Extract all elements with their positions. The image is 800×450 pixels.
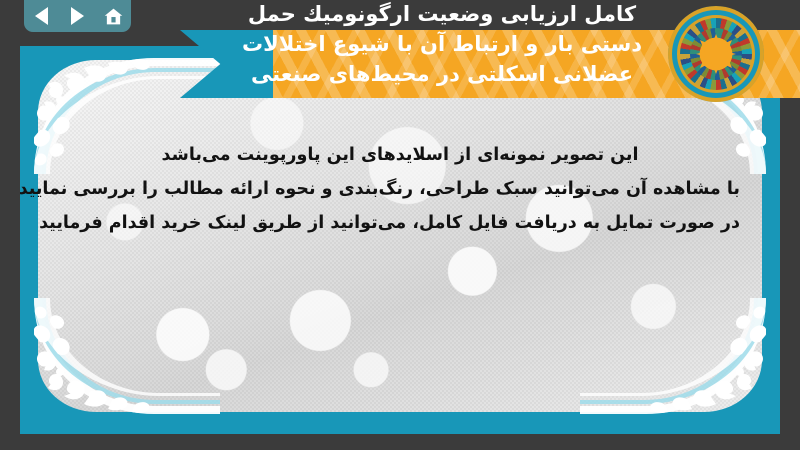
presentation-slide: این تصویر نمونه‌ای از اسلایدهای این پاور… [20,46,780,434]
persian-medallion-icon [668,6,764,102]
title-line-1: کامل ارزیابی وضعیت ارگونومیك حمل [180,0,704,30]
home-button[interactable] [100,3,126,29]
triangle-left-icon [35,7,48,25]
slide-navigation-bar [24,0,131,32]
body-line-3: در صورت تمایل به دریافت فایل کامل، می‌تو… [60,206,740,240]
body-line-1: این تصویر نمونه‌ای از اسلایدهای این پاور… [60,138,740,172]
slide-body-text: این تصویر نمونه‌ای از اسلایدهای این پاور… [60,138,740,240]
home-icon [103,6,124,27]
next-slide-button[interactable] [64,3,90,29]
triangle-right-icon [71,7,84,25]
previous-slide-button[interactable] [29,3,55,29]
body-line-2: با مشاهده آن می‌توانید سبک طراحی، رنگ‌بن… [60,172,740,206]
banner-chevron-tail [180,30,276,98]
